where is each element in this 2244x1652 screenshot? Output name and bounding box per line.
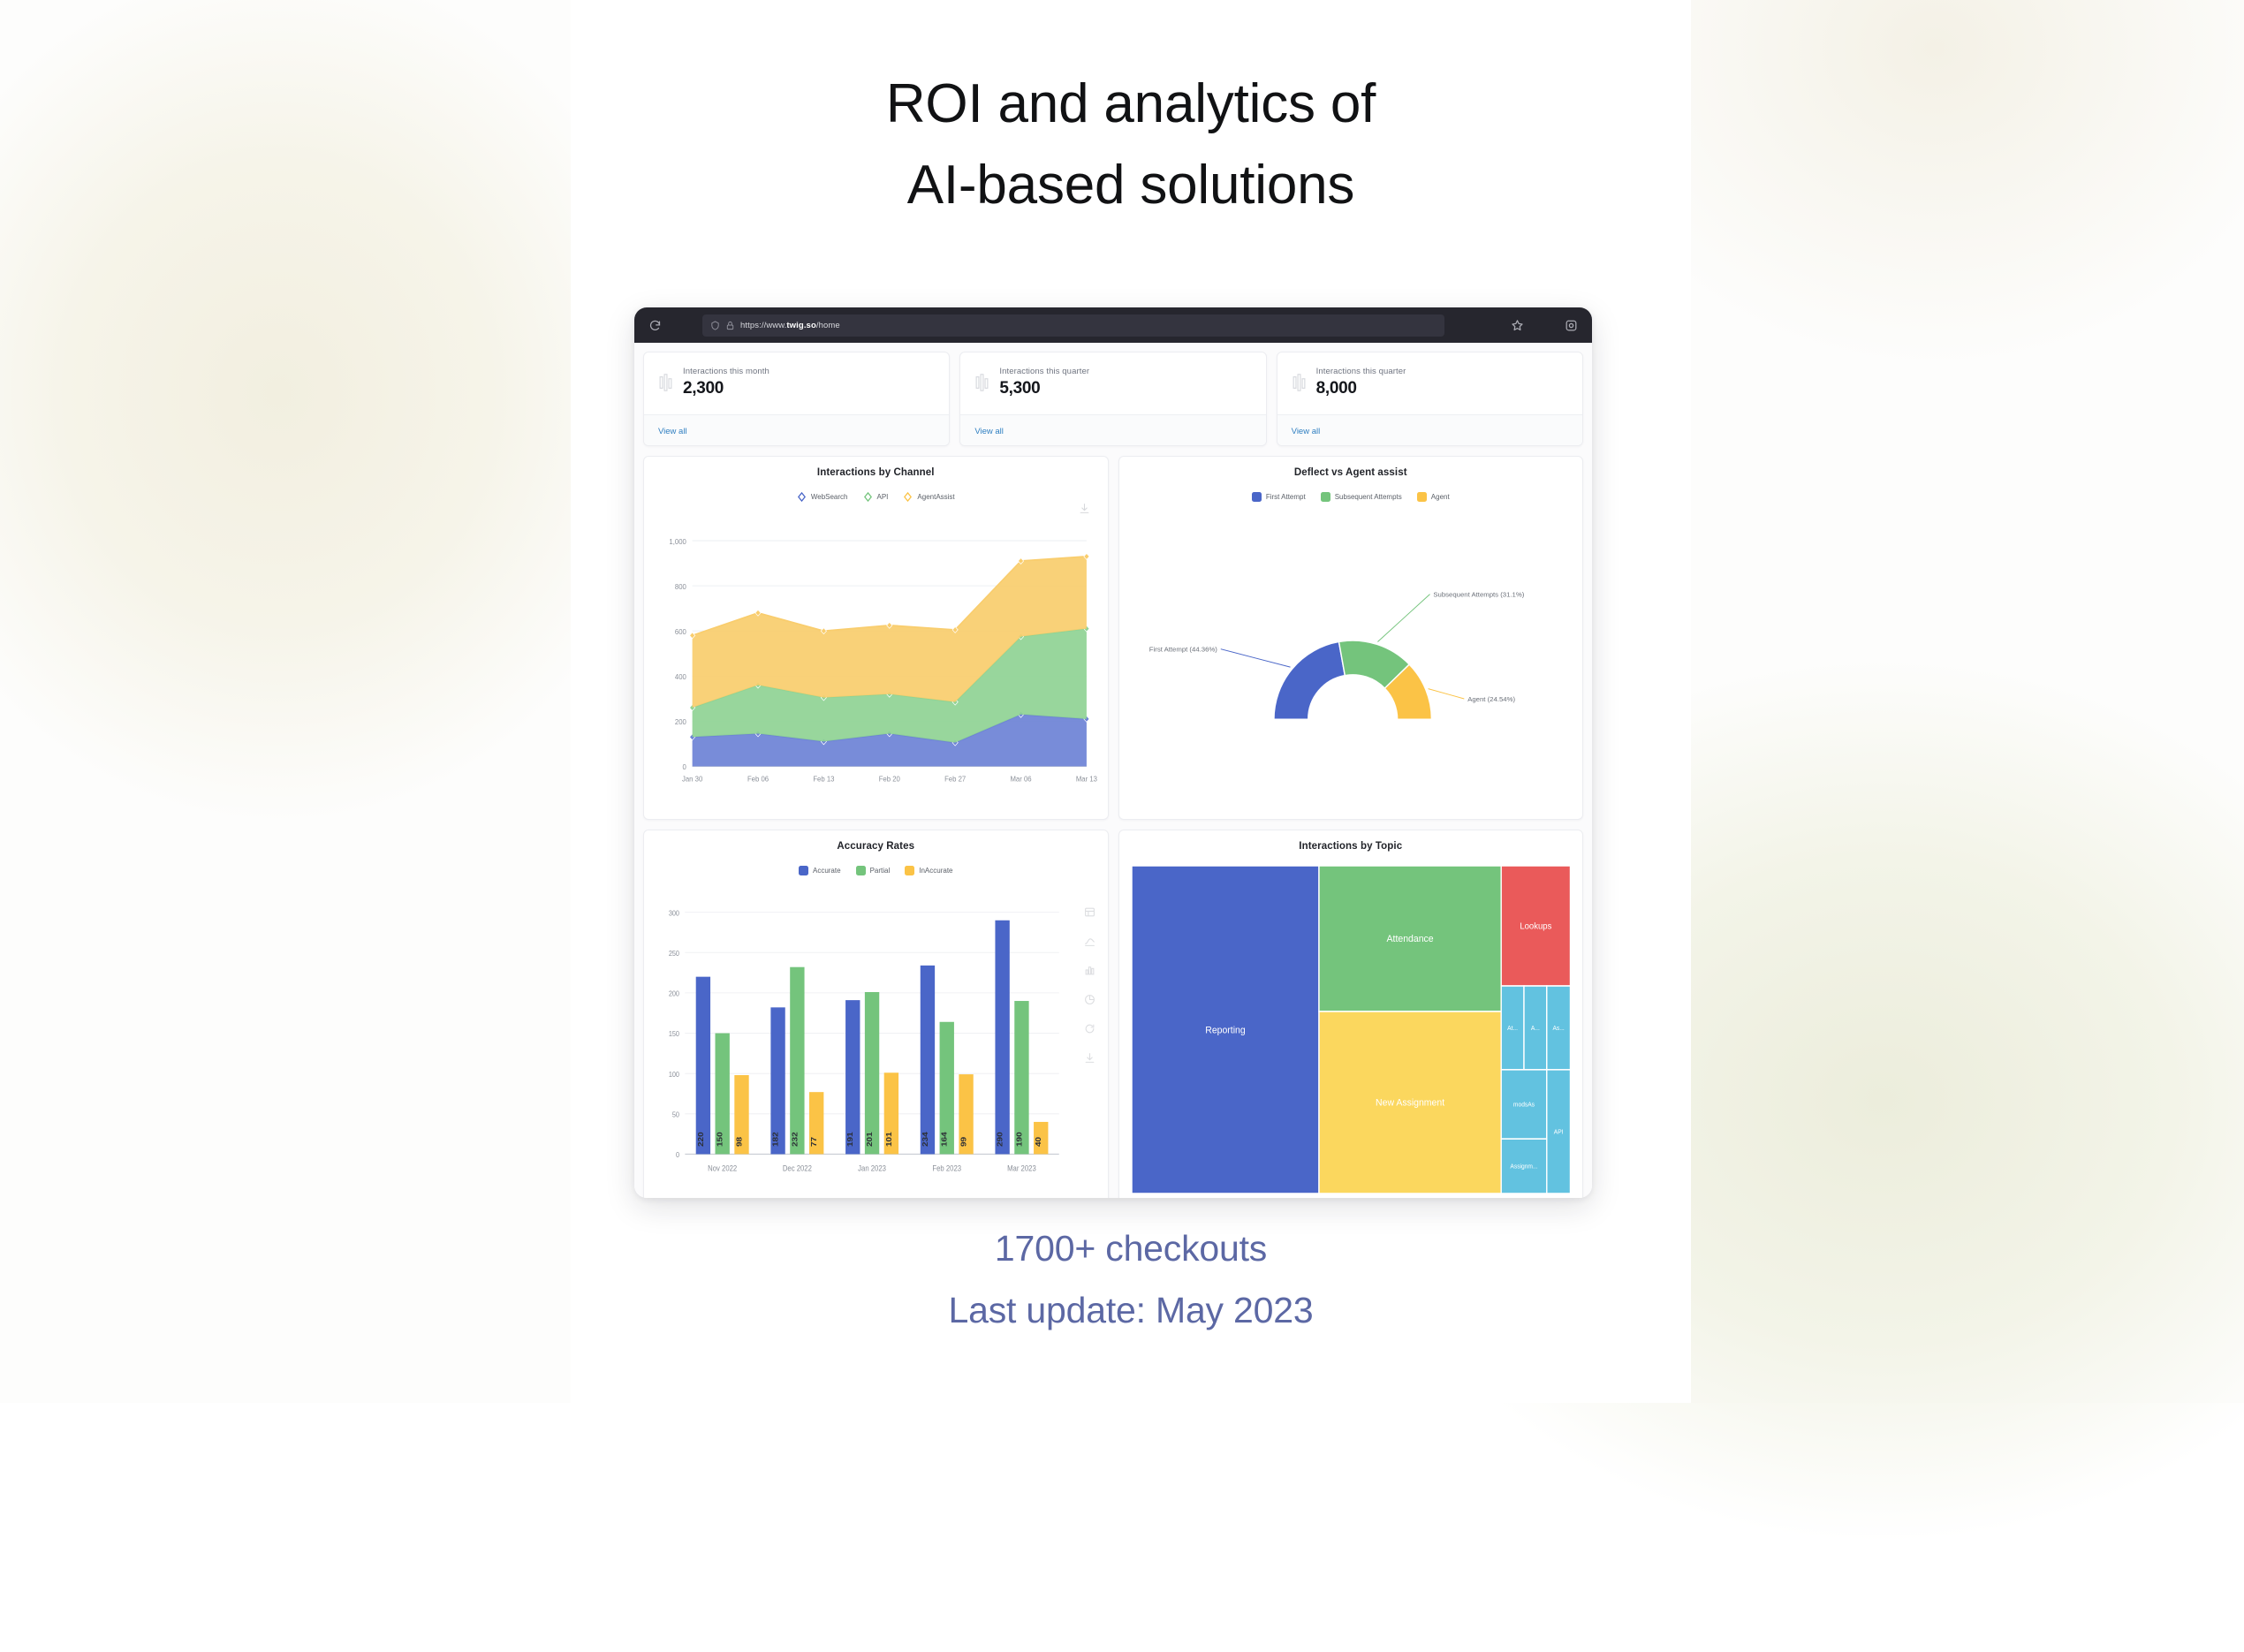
- kpi-value: 2,300: [683, 379, 769, 398]
- legend-label: AgentAssist: [917, 493, 954, 501]
- legend-item[interactable]: Accurate: [799, 866, 841, 875]
- svg-text:First Attempt (44.36%): First Attempt (44.36%): [1149, 646, 1217, 654]
- svg-text:API: API: [1553, 1129, 1563, 1135]
- svg-text:Feb 27: Feb 27: [944, 775, 967, 783]
- svg-text:150: 150: [716, 1132, 724, 1147]
- legend-label: InAccurate: [919, 867, 952, 875]
- chart-title: Deflect vs Agent assist: [1128, 467, 1574, 478]
- svg-text:Mar 13: Mar 13: [1076, 775, 1098, 783]
- svg-text:234: 234: [921, 1131, 929, 1147]
- shield-icon: [710, 321, 720, 330]
- kpi-footer: View all: [960, 414, 1265, 445]
- legend-label: API: [877, 493, 889, 501]
- diamond-marker-icon: [903, 492, 913, 502]
- chart-legend: Accurate Partial InAccurate: [653, 866, 1099, 875]
- browser-chrome-bar: https://www.twig.so/home: [634, 307, 1592, 343]
- legend-item[interactable]: InAccurate: [905, 866, 952, 875]
- svg-text:400: 400: [675, 673, 686, 681]
- view-all-link[interactable]: View all: [1292, 427, 1321, 436]
- svg-text:0: 0: [683, 763, 687, 771]
- svg-text:600: 600: [675, 628, 686, 636]
- kpi-footer: View all: [1277, 414, 1582, 445]
- svg-text:0: 0: [676, 1151, 680, 1160]
- legend-swatch-icon: [1252, 492, 1262, 502]
- svg-text:Mar 06: Mar 06: [1010, 775, 1032, 783]
- svg-text:250: 250: [669, 949, 680, 958]
- kpi-card-interactions-month[interactable]: Interactions this month 2,300 View all: [643, 352, 950, 446]
- svg-text:77: 77: [810, 1137, 818, 1147]
- legend-item[interactable]: Agent: [1417, 492, 1450, 502]
- bar-metric-icon: [1292, 373, 1307, 392]
- legend-item[interactable]: API: [863, 492, 889, 502]
- svg-text:164: 164: [940, 1131, 948, 1147]
- bar-metric-icon: [658, 373, 673, 392]
- svg-text:50: 50: [672, 1110, 680, 1119]
- chart-toolbar: [1084, 906, 1095, 1064]
- bar-metric-icon: [974, 373, 989, 392]
- view-all-link[interactable]: View all: [974, 427, 1004, 436]
- svg-text:Jan 2023: Jan 2023: [858, 1163, 886, 1173]
- dashboard-app: Interactions this month 2,300 View all I…: [634, 343, 1592, 1198]
- svg-text:290: 290: [996, 1132, 1004, 1147]
- legend-item[interactable]: AgentAssist: [903, 492, 954, 502]
- svg-text:40: 40: [1035, 1137, 1042, 1147]
- spline-icon[interactable]: [1084, 936, 1095, 947]
- kpi-card-interactions-quarter-2[interactable]: Interactions this quarter 8,000 View all: [1277, 352, 1583, 446]
- svg-text:220: 220: [696, 1132, 704, 1147]
- svg-text:150: 150: [669, 1030, 680, 1039]
- page-title: ROI and analytics of AI-based solutions: [571, 64, 1691, 226]
- chart-title: Interactions by Channel: [653, 467, 1099, 478]
- bar-icon[interactable]: [1084, 965, 1095, 976]
- legend-item[interactable]: Partial: [856, 866, 891, 875]
- svg-text:Dec 2022: Dec 2022: [783, 1163, 812, 1173]
- legend-swatch-icon: [905, 866, 914, 875]
- svg-text:Assignm...: Assignm...: [1510, 1163, 1537, 1170]
- svg-text:As...: As...: [1552, 1026, 1564, 1032]
- legend-label: Partial: [870, 867, 891, 875]
- legend-label: WebSearch: [811, 493, 848, 501]
- bookmark-star-icon[interactable]: [1511, 319, 1524, 332]
- svg-text:200: 200: [675, 718, 686, 726]
- download-icon[interactable]: [1084, 1052, 1095, 1064]
- caption-text: 1700+ checkouts Last update: May 2023: [571, 1217, 1691, 1341]
- svg-text:Attendance: Attendance: [1386, 934, 1433, 944]
- lock-icon: [725, 321, 735, 330]
- svg-text:Reporting: Reporting: [1205, 1025, 1245, 1035]
- svg-text:800: 800: [675, 583, 686, 591]
- diamond-marker-icon: [797, 492, 807, 502]
- legend-item[interactable]: First Attempt: [1252, 492, 1306, 502]
- svg-text:Nov 2022: Nov 2022: [708, 1163, 737, 1173]
- kpi-body: Interactions this quarter 8,000: [1277, 352, 1582, 414]
- donut-chart-plot: First Attempt (44.36%)Subsequent Attempt…: [1128, 527, 1574, 812]
- svg-text:200: 200: [669, 989, 680, 998]
- kpi-label: Interactions this quarter: [1316, 367, 1406, 376]
- kpi-body: Interactions this quarter 5,300: [960, 352, 1265, 414]
- kpi-label: Interactions this month: [683, 367, 769, 376]
- view-all-link[interactable]: View all: [658, 427, 687, 436]
- legend-item[interactable]: WebSearch: [797, 492, 848, 502]
- svg-text:Agent (24.54%): Agent (24.54%): [1467, 695, 1515, 703]
- svg-text:182: 182: [771, 1132, 779, 1147]
- chart-card-deflect-vs-agent-assist: Deflect vs Agent assist First Attempt Su…: [1118, 456, 1584, 820]
- pie-icon[interactable]: [1084, 994, 1095, 1005]
- extension-icon[interactable]: [1565, 319, 1578, 332]
- svg-text:modsAs: modsAs: [1512, 1102, 1535, 1108]
- legend-swatch-icon: [799, 866, 808, 875]
- svg-text:100: 100: [669, 1070, 680, 1079]
- kpi-footer: View all: [644, 414, 949, 445]
- bar-chart-plot: 05010015020025030022015098Nov 2022182232…: [653, 901, 1071, 1198]
- chart-card-interactions-by-channel: Interactions by Channel WebSearch API Ag…: [643, 456, 1109, 820]
- chart-title: Accuracy Rates: [653, 841, 1099, 852]
- svg-text:Lookups: Lookups: [1520, 921, 1551, 931]
- chart-grid: Interactions by Channel WebSearch API Ag…: [643, 456, 1583, 1198]
- svg-text:190: 190: [1015, 1132, 1023, 1147]
- address-bar[interactable]: https://www.twig.so/home: [702, 314, 1444, 337]
- svg-text:101: 101: [884, 1132, 892, 1147]
- refresh-icon[interactable]: [1084, 1023, 1095, 1034]
- svg-text:At...: At...: [1507, 1026, 1518, 1032]
- svg-text:Feb 06: Feb 06: [747, 775, 769, 783]
- url-text: https://www.twig.so/home: [740, 321, 840, 330]
- svg-text:Mar 2023: Mar 2023: [1007, 1163, 1036, 1173]
- legend-swatch-icon: [856, 866, 866, 875]
- chart-title: Interactions by Topic: [1128, 841, 1574, 852]
- svg-text:191: 191: [846, 1132, 854, 1147]
- svg-text:300: 300: [669, 909, 680, 918]
- area-chart-plot: 02004006008001,000Jan 30Feb 06Feb 13Feb …: [653, 527, 1099, 812]
- kpi-label: Interactions this quarter: [999, 367, 1089, 376]
- reload-icon[interactable]: [648, 319, 662, 332]
- chart-legend: WebSearch API AgentAssist: [653, 492, 1099, 502]
- chart-legend: First Attempt Subsequent Attempts Agent: [1128, 492, 1574, 502]
- svg-text:99: 99: [959, 1137, 967, 1147]
- chart-card-accuracy-rates: Accuracy Rates Accurate Partial InAccura…: [643, 830, 1109, 1198]
- svg-text:Subsequent Attempts (31.1%): Subsequent Attempts (31.1%): [1433, 591, 1524, 599]
- svg-text:Jan 30: Jan 30: [682, 775, 703, 783]
- kpi-value: 8,000: [1316, 379, 1406, 398]
- legend-label: Subsequent Attempts: [1335, 493, 1402, 501]
- kpi-body: Interactions this month 2,300: [644, 352, 949, 414]
- svg-text:Feb 13: Feb 13: [813, 775, 835, 783]
- svg-text:201: 201: [866, 1132, 874, 1147]
- legend-swatch-icon: [1321, 492, 1330, 502]
- svg-text:98: 98: [735, 1137, 743, 1147]
- svg-text:Feb 2023: Feb 2023: [932, 1163, 961, 1173]
- legend-label: First Attempt: [1266, 493, 1306, 501]
- legend-swatch-icon: [1417, 492, 1427, 502]
- legend-item[interactable]: Subsequent Attempts: [1321, 492, 1402, 502]
- legend-label: Agent: [1431, 493, 1450, 501]
- browser-window: https://www.twig.so/home Interactions th…: [634, 307, 1592, 1198]
- svg-text:232: 232: [791, 1132, 799, 1147]
- kpi-card-interactions-quarter-1[interactable]: Interactions this quarter 5,300 View all: [959, 352, 1266, 446]
- svg-text:Feb 20: Feb 20: [879, 775, 901, 783]
- kpi-row: Interactions this month 2,300 View all I…: [643, 352, 1583, 446]
- chrome-actions: [1511, 319, 1578, 332]
- diamond-marker-icon: [863, 492, 873, 502]
- chart-card-interactions-by-topic: Interactions by Topic ReportingAttendanc…: [1118, 830, 1584, 1198]
- legend-label: Accurate: [813, 867, 841, 875]
- svg-text:1,000: 1,000: [669, 537, 686, 545]
- kpi-value: 5,300: [999, 379, 1089, 398]
- svg-text:A...: A...: [1530, 1026, 1539, 1032]
- table-icon[interactable]: [1084, 906, 1095, 918]
- download-icon[interactable]: [1079, 503, 1090, 514]
- svg-text:New Assignment: New Assignment: [1376, 1097, 1444, 1108]
- treemap-plot: ReportingAttendanceNew AssignmentLookups…: [1132, 866, 1571, 1194]
